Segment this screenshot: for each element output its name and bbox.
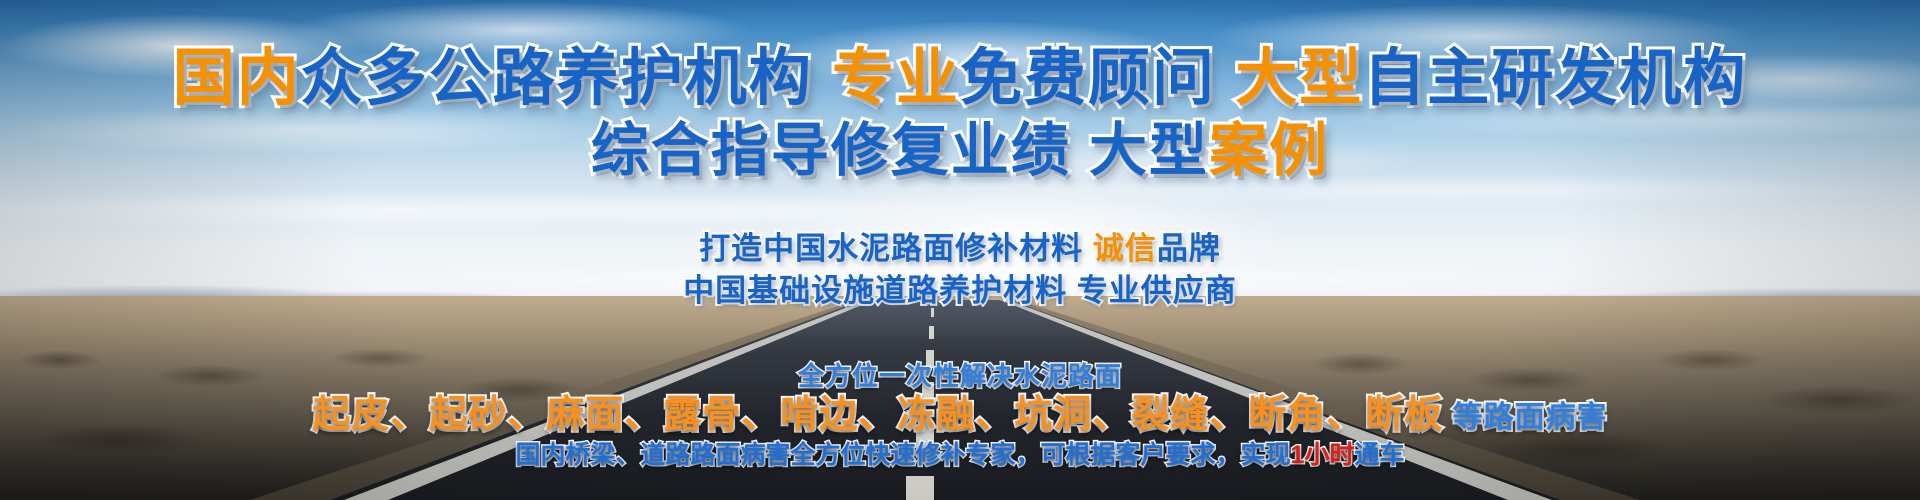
text-run: 诚信	[1093, 231, 1157, 266]
text-run	[1443, 401, 1452, 434]
text-run: 起皮、起砂、麻面、露骨、啃边、冻融、坑洞、裂缝、断角、断板	[312, 394, 1443, 436]
text-run: 打造中国水泥路面修补材料	[699, 231, 1083, 266]
text-run: 综合指导修复业绩	[591, 118, 1071, 183]
text-run	[813, 44, 832, 113]
text-run: 国内桥梁、道路路面病害全方位快速修补专家，可根据客户要求，实现	[516, 441, 1291, 469]
promo-banner: 国内众多公路养护机构 专业免费顾问 大型自主研发机构 综合指导修复业绩 大型案例…	[0, 0, 1920, 500]
subhead-line-2: 中国基础设施道路养护材料 专业供应商	[0, 275, 1920, 306]
text-run: 大型	[1235, 44, 1363, 113]
text-run: 免费顾问	[960, 44, 1216, 113]
headline-line-1: 国内众多公路养护机构 专业免费顾问 大型自主研发机构	[0, 48, 1920, 110]
text-run: 1小时	[1291, 441, 1355, 469]
text-run	[1216, 44, 1235, 113]
headline-line-2: 综合指导修复业绩 大型案例	[0, 122, 1920, 180]
text-run	[1071, 118, 1089, 183]
subhead-line-1: 打造中国水泥路面修补材料 诚信品牌	[0, 233, 1920, 264]
text-run	[1083, 231, 1093, 266]
text-run: 大型	[1089, 118, 1209, 183]
footer-line-2: 起皮、起砂、麻面、露骨、啃边、冻融、坑洞、裂缝、断角、断板 等路面病害	[0, 396, 1920, 434]
text-run: 中国基础设施道路养护材料 专业供应商	[683, 273, 1237, 308]
text-run: 众多公路养护机构	[301, 44, 813, 113]
text-run: 国内	[173, 44, 301, 113]
text-run: 通车	[1354, 441, 1404, 469]
banner-text-layer: 国内众多公路养护机构 专业免费顾问 大型自主研发机构 综合指导修复业绩 大型案例…	[0, 0, 1920, 500]
footer-line-3: 国内桥梁、道路路面病害全方位快速修补专家，可根据客户要求，实现1小时通车	[0, 443, 1920, 468]
text-run: 专业	[832, 44, 960, 113]
text-run: 等路面病害	[1453, 401, 1608, 434]
text-run: 案例	[1209, 118, 1329, 183]
text-run: 自主研发机构	[1363, 44, 1747, 113]
text-run: 品牌	[1157, 231, 1221, 266]
footer-line-1: 全方位一次性解决水泥路面	[0, 363, 1920, 389]
